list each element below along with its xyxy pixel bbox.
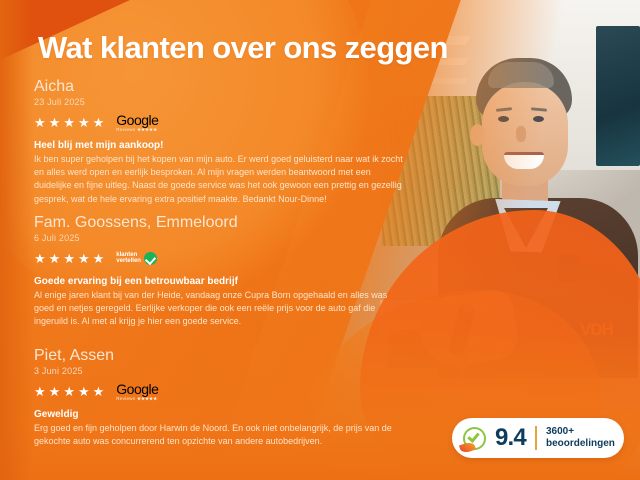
star-icon: ★ — [63, 116, 75, 129]
rating-score-badge: 9.4 3600+ beoordelingen — [452, 418, 624, 458]
page-title: Wat klanten over ons zeggen — [38, 32, 448, 63]
star-icon: ★ — [93, 116, 105, 129]
klantenvertellen-check-icon — [463, 427, 486, 450]
review-title: Goede ervaring bij een betrouwbaar bedri… — [34, 276, 406, 287]
review-card: Piet, Assen 3 Juni 2025 ★ ★ ★ ★ ★ Google… — [34, 347, 406, 448]
review-date: 3 Juni 2025 — [34, 366, 406, 376]
review-card: Aicha 23 Juli 2025 ★ ★ ★ ★ ★ Google Revi… — [34, 78, 406, 206]
review-body: Al enige jaren klant bij van der Heide, … — [34, 289, 406, 328]
star-rating: ★ ★ ★ ★ ★ — [34, 252, 104, 265]
review-count: 3600+ — [546, 426, 615, 438]
star-icon: ★ — [78, 116, 90, 129]
star-icon: ★ — [78, 252, 90, 265]
google-wordmark: Google — [116, 382, 158, 396]
star-icon: ★ — [93, 385, 105, 398]
reviewer-name: Piet, Assen — [34, 347, 406, 365]
review-card: Fam. Goossens, Emmeloord 6 Juli 2025 ★ ★… — [34, 214, 406, 329]
google-reviews-sublabel: Reviews ★★★★★ — [116, 128, 158, 133]
star-rating: ★ ★ ★ ★ ★ — [34, 385, 104, 398]
google-wordmark: Google — [116, 113, 158, 127]
klantenvertellen-line2: vertellen — [116, 258, 141, 265]
star-icon: ★ — [49, 116, 61, 129]
star-icon: ★ — [49, 252, 61, 265]
review-meta: ★ ★ ★ ★ ★ Google Reviews ★★★★★ — [34, 380, 406, 402]
google-reviews-logo: Google Reviews ★★★★★ — [116, 382, 158, 402]
klantenvertellen-wordmark: klanten vertellen — [116, 252, 141, 266]
star-rating: ★ ★ ★ ★ ★ — [34, 116, 104, 129]
review-count-label: beoordelingen — [546, 438, 615, 450]
review-meta: ★ ★ ★ ★ ★ klanten vertellen — [34, 247, 406, 269]
reviewer-name: Fam. Goossens, Emmeloord — [34, 214, 406, 232]
star-icon: ★ — [49, 385, 61, 398]
review-title: Geweldig — [34, 409, 406, 420]
review-date: 23 Juli 2025 — [34, 97, 406, 107]
google-sub-text: Reviews — [116, 396, 135, 401]
star-icon: ★ — [63, 385, 75, 398]
review-title: Heel blij met mijn aankoop! — [34, 140, 406, 151]
star-icon: ★ — [34, 116, 46, 129]
score-value: 9.4 — [495, 424, 526, 452]
google-reviews-sublabel: Reviews ★★★★★ — [116, 397, 158, 402]
klantenvertellen-logo: klanten vertellen — [116, 252, 157, 266]
review-body: Erg goed en fijn geholpen door Harwin de… — [34, 422, 406, 448]
reviewer-name: Aicha — [34, 78, 406, 96]
check-circle-icon — [144, 252, 157, 265]
google-sub-text: Reviews — [116, 127, 135, 132]
klantenvertellen-line1: klanten — [116, 252, 141, 259]
star-icon: ★ — [63, 252, 75, 265]
star-icon: ★ — [34, 252, 46, 265]
google-sub-stars: ★★★★★ — [137, 396, 157, 401]
review-meta: ★ ★ ★ ★ ★ Google Reviews ★★★★★ — [34, 111, 406, 133]
google-sub-stars: ★★★★★ — [137, 127, 157, 132]
divider — [535, 426, 537, 450]
star-icon: ★ — [78, 385, 90, 398]
star-icon: ★ — [93, 252, 105, 265]
google-reviews-logo: Google Reviews ★★★★★ — [116, 113, 158, 133]
review-date: 6 Juli 2025 — [34, 233, 406, 243]
star-icon: ★ — [34, 385, 46, 398]
review-body: Ik ben super geholpen bij het kopen van … — [34, 153, 406, 205]
review-count-block: 3600+ beoordelingen — [546, 426, 615, 450]
